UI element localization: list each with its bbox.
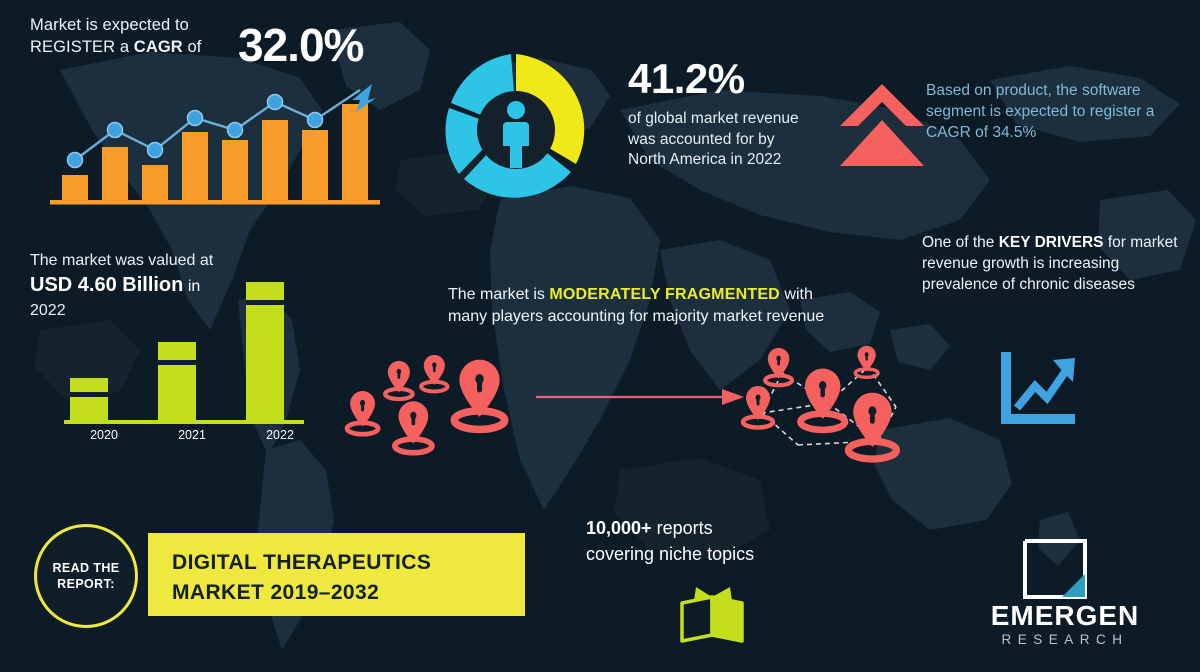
scattered-pins-cluster bbox=[330, 352, 550, 462]
map-pin-icon bbox=[765, 348, 792, 385]
market-value-xtick-2022: 2022 bbox=[250, 428, 310, 442]
market-value-in: in bbox=[183, 278, 200, 295]
key-drivers-pre: One of the bbox=[922, 234, 999, 251]
map-pin-icon bbox=[347, 355, 505, 453]
read-the-report-badge[interactable]: READ THE REPORT: bbox=[34, 524, 138, 628]
market-value-line-1: The market was valued at bbox=[30, 250, 270, 272]
market-value-axis bbox=[64, 420, 304, 424]
headline-line-2-pre: REGISTER a bbox=[30, 38, 134, 56]
read-the-report-label: READ THE REPORT: bbox=[37, 560, 135, 592]
reports-line-1: 10,000+ reports bbox=[586, 515, 816, 541]
market-value-amount: USD 4.60 Billion bbox=[30, 274, 183, 296]
map-pin-icon bbox=[801, 368, 845, 429]
fragmentation-text: The market is MODERATELY FRAGMENTED with… bbox=[448, 284, 828, 327]
market-value-block: The market was valued at USD 4.60 Billio… bbox=[30, 250, 270, 322]
growth-trend-chart bbox=[50, 82, 380, 207]
reports-count: 10,000+ bbox=[586, 518, 652, 538]
double-up-arrow-icon bbox=[838, 80, 926, 168]
report-title-line-1: DIGITAL THERAPEUTICS bbox=[172, 548, 532, 578]
headline-block: Market is expected to REGISTER a CAGR of… bbox=[30, 14, 430, 58]
logo-square-icon bbox=[1022, 538, 1088, 600]
logo-subtitle: RESEARCH bbox=[960, 632, 1170, 648]
map-pin-icon bbox=[743, 386, 773, 428]
headline-cagr-word: CAGR bbox=[134, 38, 183, 56]
regional-revenue-donut bbox=[432, 46, 600, 214]
software-segment-text: Based on product, the software segment i… bbox=[926, 80, 1188, 143]
key-drivers-bold: KEY DRIVERS bbox=[999, 234, 1104, 251]
reports-line-2: covering niche topics bbox=[586, 541, 816, 567]
headline-line-2: REGISTER a CAGR of bbox=[30, 36, 430, 58]
north-america-percent: 41.2% bbox=[628, 55, 813, 103]
report-title-line-2: MARKET 2019–2032 bbox=[172, 578, 532, 608]
line-chart-arrow-icon bbox=[995, 350, 1080, 430]
right-arrow-icon bbox=[536, 385, 746, 409]
map-pin-icon bbox=[855, 346, 878, 378]
growth-chart-axis bbox=[50, 200, 380, 205]
connected-pins-network bbox=[728, 345, 943, 470]
headline-line-1: Market is expected to bbox=[30, 14, 430, 36]
market-value-xtick-2020: 2020 bbox=[74, 428, 134, 442]
logo-name: EMERGEN bbox=[960, 600, 1170, 632]
open-book-icon bbox=[676, 585, 748, 647]
infographic-canvas: Market is expected to REGISTER a CAGR of… bbox=[0, 0, 1200, 672]
cagr-value: 32.0% bbox=[238, 22, 363, 68]
north-america-description: of global market revenue was accounted f… bbox=[628, 109, 813, 171]
market-value-line-2: USD 4.60 Billion in bbox=[30, 272, 270, 300]
report-banner-title: DIGITAL THERAPEUTICS MARKET 2019–2032 bbox=[172, 548, 532, 608]
fragmentation-highlight: MODERATELY FRAGMENTED bbox=[549, 286, 780, 303]
north-america-block: 41.2% of global market revenue was accou… bbox=[628, 55, 813, 171]
reports-word: reports bbox=[652, 518, 713, 538]
market-value-xtick-2021: 2021 bbox=[162, 428, 222, 442]
market-value-year: 2022 bbox=[30, 300, 270, 322]
reports-count-block: 10,000+ reports covering niche topics bbox=[586, 515, 816, 567]
headline-line-2-post: of bbox=[183, 38, 202, 56]
map-pin-icon bbox=[848, 393, 896, 459]
fragmentation-pre: The market is bbox=[448, 286, 549, 303]
emergen-research-logo[interactable]: EMERGEN RESEARCH bbox=[960, 538, 1170, 656]
key-drivers-text: One of the KEY DRIVERS for market revenu… bbox=[922, 232, 1192, 295]
